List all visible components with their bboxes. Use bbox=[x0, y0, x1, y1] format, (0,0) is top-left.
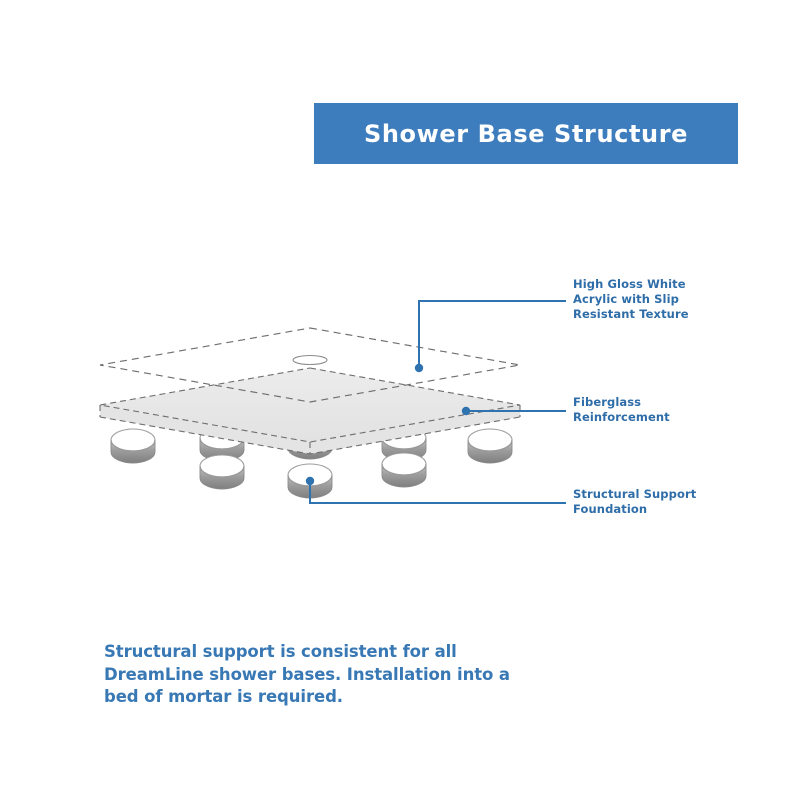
support-ring bbox=[468, 429, 512, 463]
drain-ellipse-icon bbox=[293, 356, 327, 365]
support-ring bbox=[111, 429, 155, 463]
callout-dot-fiberglass bbox=[462, 407, 470, 415]
support-ring bbox=[200, 455, 244, 489]
callout-label-acrylic: High Gloss White Acrylic with Slip Resis… bbox=[573, 277, 689, 322]
callout-label-foundation: Structural Support Foundation bbox=[573, 487, 696, 517]
callout-dot-acrylic bbox=[415, 364, 423, 372]
callout-label-fiberglass: Fiberglass Reinforcement bbox=[573, 395, 670, 425]
callout-dot-foundation bbox=[306, 477, 314, 485]
diagram-page: Shower Base Structure bbox=[0, 0, 806, 806]
fiberglass-layer bbox=[100, 368, 520, 454]
footer-caption: Structural support is consistent for all… bbox=[104, 641, 534, 709]
support-ring bbox=[382, 453, 426, 487]
support-ring-group-front bbox=[200, 453, 426, 498]
